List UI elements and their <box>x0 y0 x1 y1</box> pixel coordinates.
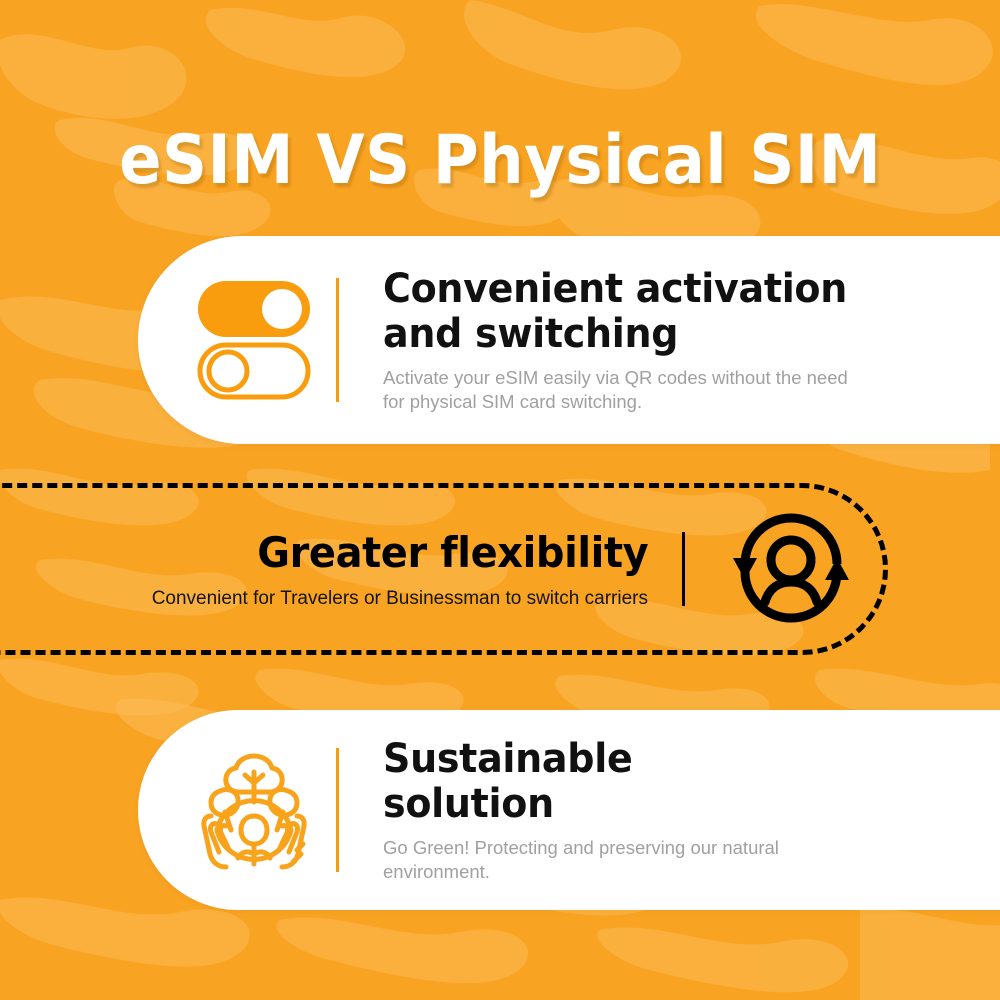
page-title: eSIM VS Physical SIM <box>119 124 881 198</box>
card-title: Convenient activation and switching <box>383 267 950 357</box>
feature-band-greater-flexibility[interactable]: Greater flexibility Convenient for Trave… <box>0 483 888 655</box>
band-divider-line <box>682 532 685 606</box>
band-title: Greater flexibility <box>177 529 648 577</box>
band-inner: Greater flexibility Convenient for Trave… <box>152 508 883 630</box>
poster-title-wrapper: eSIM VS Physical SIM <box>0 78 1000 243</box>
card-description: Go Green! Protecting and preserving our … <box>383 836 863 884</box>
toggle-switches-icon <box>172 279 336 401</box>
card-title: Sustainable solution <box>383 737 950 827</box>
eco-hands-earth-icon <box>172 750 336 870</box>
card-description: Activate your eSIM easily via QR codes w… <box>383 366 863 414</box>
card-divider-line <box>336 748 339 872</box>
card-text-block: Sustainable solution Go Green! Protectin… <box>383 737 1000 884</box>
user-switch-carriers-icon <box>721 508 861 630</box>
feature-card-sustainable-solution[interactable]: Sustainable solution Go Green! Protectin… <box>138 710 1000 910</box>
band-text-block: Greater flexibility Convenient for Trave… <box>152 529 682 610</box>
infographic-poster: eSIM VS Physical SIM Convenient activati… <box>0 0 1000 1000</box>
band-description: Convenient for Travelers or Businessman … <box>152 587 648 610</box>
card-divider-line <box>336 278 339 402</box>
feature-card-convenient-activation[interactable]: Convenient activation and switching Acti… <box>138 236 1000 444</box>
card-text-block: Convenient activation and switching Acti… <box>383 267 1000 414</box>
